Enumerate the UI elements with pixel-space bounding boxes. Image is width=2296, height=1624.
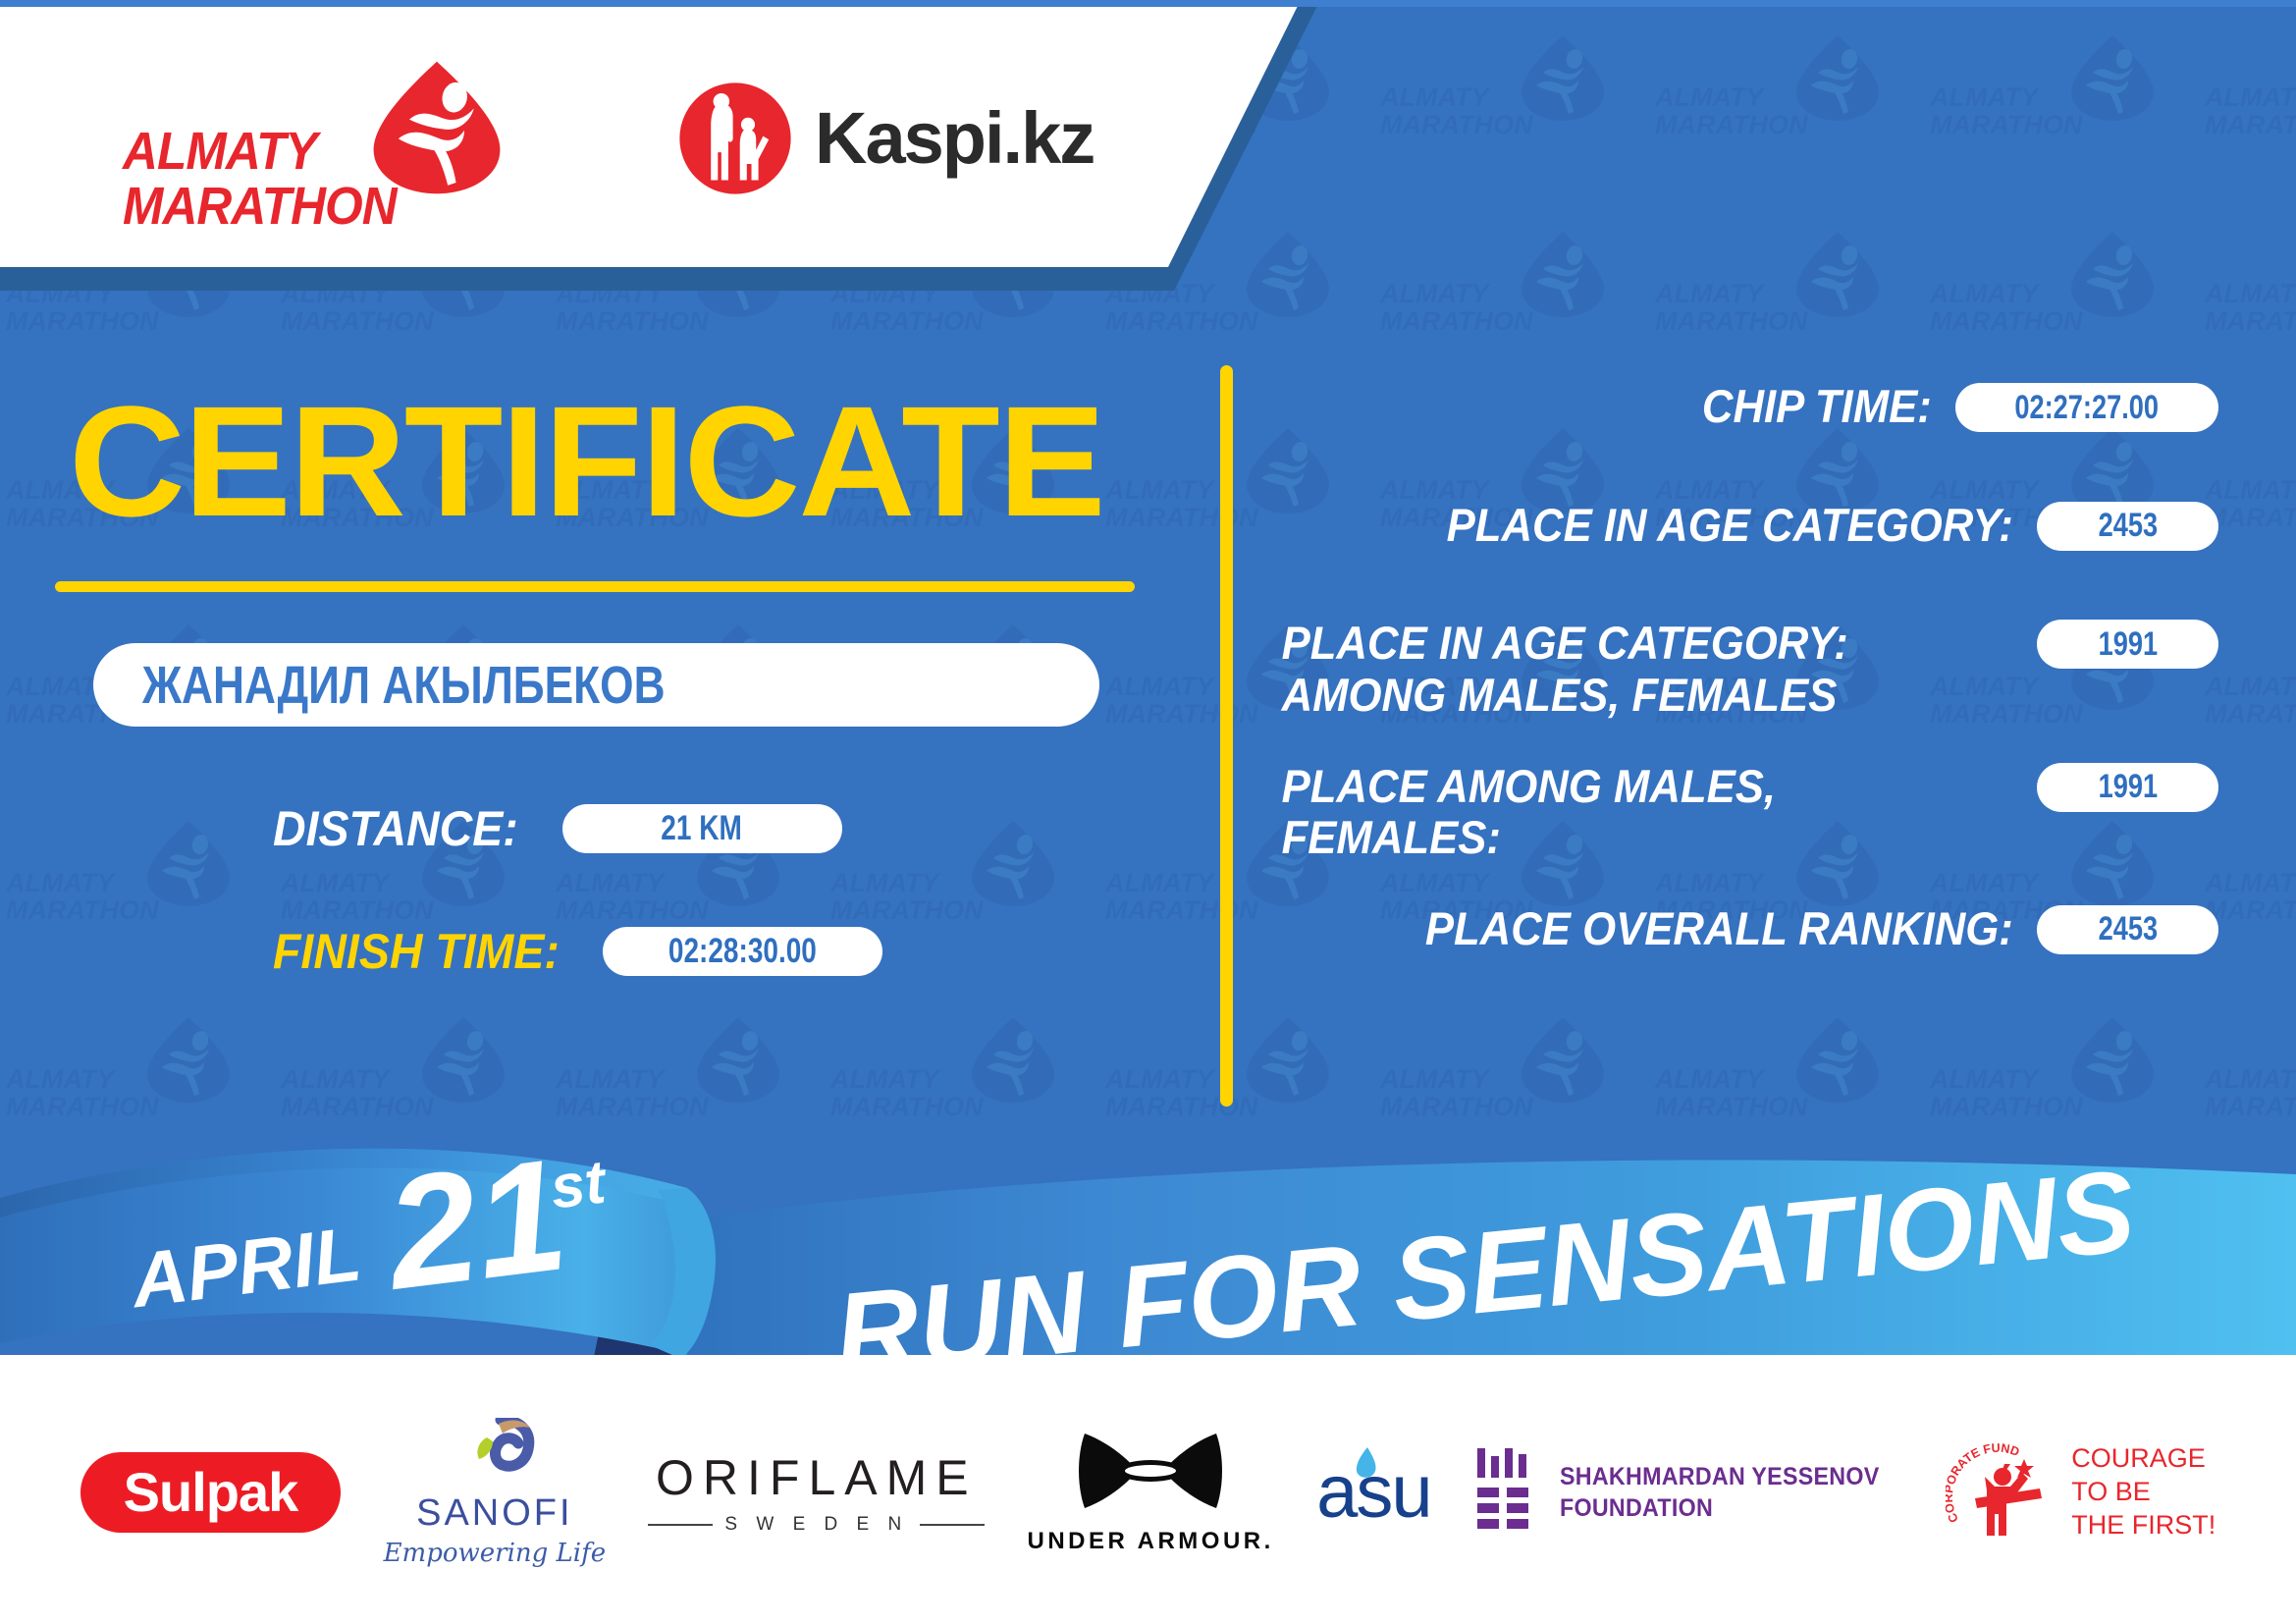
top-border-strip xyxy=(0,0,2296,7)
almaty-marathon-logo-line1: ALMATY xyxy=(123,124,366,179)
finish-time-row: FINISH TIME: 02:28:30.00 xyxy=(273,923,882,980)
stat-value-chip-time: 02:27:27.00 xyxy=(2015,389,2160,427)
stat-value-place-overall: 2453 xyxy=(2098,910,2158,948)
finish-time-pill: 02:28:30.00 xyxy=(603,927,882,976)
sanofi-tagline: Empowering Life xyxy=(384,1539,607,1568)
distance-label: DISTANCE: xyxy=(273,800,518,857)
sanofi-logo: SANOFI Empowering Life xyxy=(384,1418,607,1568)
oriflame-rule-right xyxy=(920,1524,985,1526)
sponsor-shakhmardan-yessenov-foundation: SHAKHMARDAN YESSENOV FOUNDATION xyxy=(1473,1448,1903,1537)
svg-text:st: st xyxy=(547,1148,611,1221)
stat-row: PLACE OVERALL RANKING: 2453 xyxy=(1276,903,2218,955)
sponsor-sulpak: Sulpak xyxy=(80,1452,342,1534)
sulpak-logo: Sulpak xyxy=(80,1452,342,1534)
asu-droplet-icon xyxy=(1354,1447,1379,1481)
stats-panel: CHIP TIME: 02:27:27.00 PLACE IN AGE CATE… xyxy=(1276,381,2218,954)
stat-value-place-among-males-females: 1991 xyxy=(2098,768,2158,806)
kaspi-people-circle-icon xyxy=(677,81,793,196)
courage-line1: COURAGE xyxy=(2071,1442,2216,1476)
svg-text:21: 21 xyxy=(375,1125,575,1324)
distance-pill: 21 KM xyxy=(562,804,842,853)
sanofi-mark-icon xyxy=(450,1418,540,1489)
stat-pill-place-among-males-females: 1991 xyxy=(2037,763,2218,812)
stat-row: PLACE IN AGE CATEGORY: 2453 xyxy=(1276,500,2218,552)
sponsor-sanofi: SANOFI Empowering Life xyxy=(384,1418,607,1568)
distance-value: 21 KM xyxy=(662,809,742,848)
kaspi-logo: Kaspi.kz xyxy=(677,81,1094,196)
almaty-marathon-logo: ALMATY MARATHON xyxy=(123,59,476,231)
stat-label-place-among-males-females: PLACE AMONG MALES, FEMALES: xyxy=(1276,761,1984,864)
yessenov-line2: FOUNDATION xyxy=(1560,1492,1880,1524)
stat-label-chip-time: CHIP TIME: xyxy=(1323,381,1955,433)
shakhmardan-yessenov-logo: SHAKHMARDAN YESSENOV FOUNDATION xyxy=(1473,1448,1903,1537)
oriflame-logo-text: ORIFLAME xyxy=(656,1449,978,1506)
sponsor-oriflame: ORIFLAME S W E D E N xyxy=(648,1449,985,1536)
sponsor-under-armour: UNDER ARMOUR. xyxy=(1028,1430,1274,1555)
stat-pill-chip-time: 02:27:27.00 xyxy=(1955,383,2218,432)
courage-logo-text: COURAGE TO BE THE FIRST! xyxy=(2071,1442,2216,1542)
finish-time-label: FINISH TIME: xyxy=(273,923,560,980)
stat-value-place-age-among: 1991 xyxy=(2098,625,2158,664)
almaty-marathon-logo-text: ALMATY MARATHON xyxy=(123,124,366,234)
stat-row: CHIP TIME: 02:27:27.00 xyxy=(1276,381,2218,433)
yessenov-bars-icon xyxy=(1473,1448,1534,1537)
courage-runner-icon: CORPORATE FUND xyxy=(1946,1437,2056,1547)
sanofi-logo-text: SANOFI xyxy=(416,1492,572,1535)
header-content: ALMATY MARATHON xyxy=(0,0,1301,267)
oriflame-rule-left xyxy=(648,1524,713,1526)
distance-row: DISTANCE: 21 KM xyxy=(273,800,842,857)
oriflame-sub: S W E D E N xyxy=(648,1514,985,1536)
certificate-root: ALMATY MARATHON xyxy=(0,0,2296,1624)
stat-label-place-age-among: PLACE IN AGE CATEGORY: AMONG MALES, FEMA… xyxy=(1276,618,1984,721)
svg-text:CORPORATE FUND: CORPORATE FUND xyxy=(1946,1441,2021,1525)
under-armour-logo-text: UNDER ARMOUR. xyxy=(1028,1528,1274,1555)
asu-logo: asu xyxy=(1316,1455,1431,1530)
stat-row: PLACE AMONG MALES, FEMALES: 1991 xyxy=(1276,761,2218,864)
stat-pill-place-overall: 2453 xyxy=(2037,905,2218,954)
under-armour-mark-icon xyxy=(1077,1430,1224,1520)
oriflame-logo: ORIFLAME S W E D E N xyxy=(648,1449,985,1536)
stat-row: PLACE IN AGE CATEGORY: AMONG MALES, FEMA… xyxy=(1276,618,2218,721)
athlete-name-value: ЖАНАДИЛ АКЫЛБЕКОВ xyxy=(142,655,666,716)
oriflame-tagline: S W E D E N xyxy=(724,1514,908,1536)
title-underline xyxy=(55,581,1135,592)
courage-line2: TO BE xyxy=(2071,1476,2216,1509)
kaspi-logo-text: Kaspi.kz xyxy=(815,102,1094,175)
stat-label-place-age-category: PLACE IN AGE CATEGORY: xyxy=(1329,500,2037,552)
yessenov-line1: SHAKHMARDAN YESSENOV xyxy=(1560,1461,1880,1492)
stat-value-place-age-category: 2453 xyxy=(2098,507,2158,545)
sponsor-asu: asu xyxy=(1316,1455,1431,1530)
sulpak-logo-text: Sulpak xyxy=(124,1461,298,1523)
stat-pill-place-age-among: 1991 xyxy=(2037,620,2218,669)
runner-drop-icon xyxy=(368,59,506,196)
vertical-divider xyxy=(1220,365,1233,1107)
courage-fund-logo: CORPORATE FUND COURAGE TO BE THE FIRST! xyxy=(1946,1437,2216,1547)
stat-pill-place-age-category: 2453 xyxy=(2037,502,2218,551)
courage-line3: THE FIRST! xyxy=(2071,1509,2216,1543)
stat-label-place-overall: PLACE OVERALL RANKING: xyxy=(1329,903,2037,955)
under-armour-logo: UNDER ARMOUR. xyxy=(1028,1430,1274,1555)
page-title: CERTIFICATE xyxy=(69,383,1104,540)
finish-time-value: 02:28:30.00 xyxy=(668,932,817,971)
athlete-name-field: ЖАНАДИЛ АКЫЛБЕКОВ xyxy=(93,643,1099,727)
sponsor-courage-to-be-the-first: CORPORATE FUND COURAGE TO BE THE FIRST! xyxy=(1946,1437,2216,1547)
yessenov-logo-text: SHAKHMARDAN YESSENOV FOUNDATION xyxy=(1560,1461,1880,1524)
almaty-marathon-logo-line2: MARATHON xyxy=(123,179,366,234)
sponsor-bar: Sulpak SANOFI Empowering Life ORIFLAME S… xyxy=(0,1394,2296,1591)
